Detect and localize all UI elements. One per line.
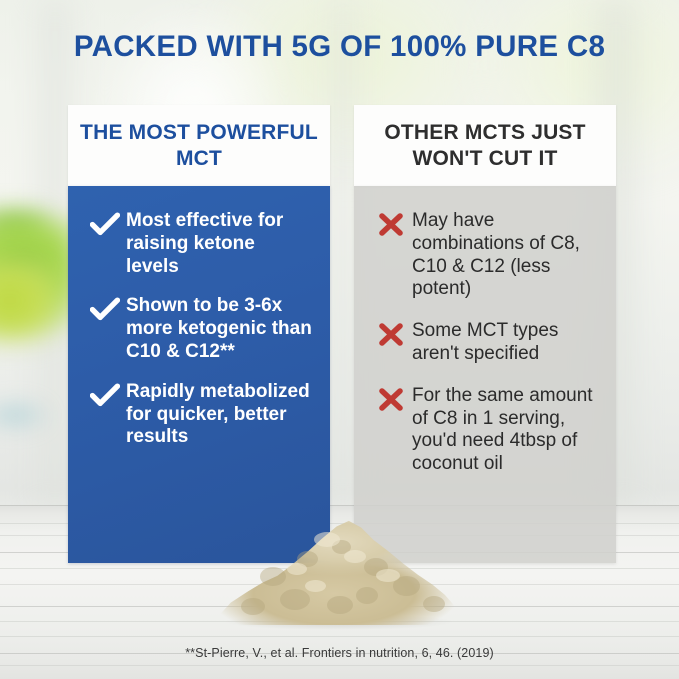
background-teal-object bbox=[0, 398, 50, 432]
check-icon bbox=[84, 382, 126, 409]
list-item: Rapidly metabolized for quicker, better … bbox=[84, 381, 314, 449]
list-item-label: May have combinations of C8, C10 & C12 (… bbox=[412, 210, 600, 301]
list-item: Some MCT types aren't specified bbox=[370, 320, 600, 366]
check-icon bbox=[84, 211, 126, 238]
comparison-card-negative: OTHER MCTS JUST WON'T CUT IT May have co… bbox=[354, 105, 616, 563]
cross-icon bbox=[370, 211, 412, 238]
page-title: PACKED WITH 5G OF 100% PURE C8 bbox=[0, 30, 679, 64]
list-item-label: Shown to be 3-6x more ketogenic than C10… bbox=[126, 295, 314, 363]
list-item-label: Some MCT types aren't specified bbox=[412, 320, 600, 366]
list-item: May have combinations of C8, C10 & C12 (… bbox=[370, 210, 600, 301]
list-item-label: For the same amount of C8 in 1 serving, … bbox=[412, 385, 600, 476]
list-item-label: Rapidly metabolized for quicker, better … bbox=[126, 381, 314, 449]
list-item: Shown to be 3-6x more ketogenic than C10… bbox=[84, 295, 314, 363]
citation-footnote: **St-Pierre, V., et al. Frontiers in nut… bbox=[0, 646, 679, 660]
list-item: For the same amount of C8 in 1 serving, … bbox=[370, 385, 600, 476]
comparison-card-positive: THE MOST POWERFUL MCT Most effective for… bbox=[68, 105, 330, 563]
card-left-title: THE MOST POWERFUL MCT bbox=[68, 105, 330, 186]
background-plant-light bbox=[0, 258, 60, 343]
cross-icon bbox=[370, 386, 412, 413]
card-right-title: OTHER MCTS JUST WON'T CUT IT bbox=[354, 105, 616, 186]
cross-icon bbox=[370, 321, 412, 348]
list-item-label: Most effective for raising ketone levels bbox=[126, 210, 314, 278]
check-icon bbox=[84, 296, 126, 323]
card-right-body: May have combinations of C8, C10 & C12 (… bbox=[354, 186, 616, 563]
background-band-2 bbox=[330, 0, 356, 509]
list-item: Most effective for raising ketone levels bbox=[84, 210, 314, 278]
card-left-body: Most effective for raising ketone levels… bbox=[68, 186, 330, 563]
